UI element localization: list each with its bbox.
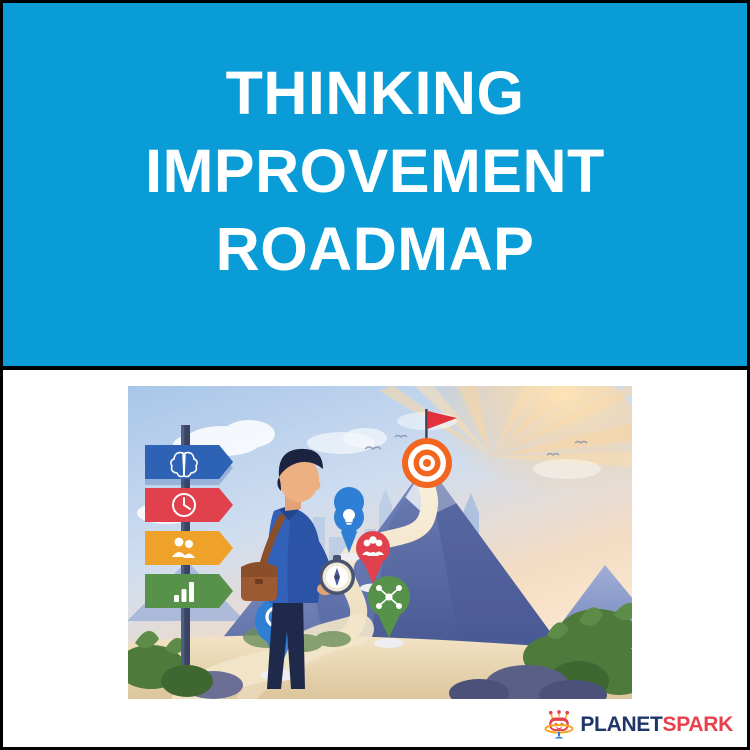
page-title-line-1: THINKING <box>226 55 525 131</box>
signpost-arrow-people[interactable] <box>145 531 233 565</box>
title-banner: THINKING IMPROVEMENT ROADMAP <box>3 3 747 370</box>
signpost-arrow-time[interactable] <box>145 488 233 522</box>
planetspark-robot-icon <box>544 710 574 740</box>
planetspark-logo: PLANETSPARK <box>544 709 733 741</box>
brand-word-spark: SPARK <box>663 713 733 737</box>
ear <box>314 480 321 490</box>
content-area: PLANETSPARK <box>3 374 747 747</box>
roadmap-illustration <box>127 385 633 700</box>
planetspark-wordmark: PLANETSPARK <box>580 713 733 737</box>
brand-word-planet: PLANET <box>580 713 662 737</box>
signpost-arrow-thinking[interactable] <box>145 445 233 485</box>
shoulder-bag <box>241 562 277 601</box>
slide-canvas: THINKING IMPROVEMENT ROADMAP <box>0 0 750 750</box>
illustration-graphic <box>127 385 633 700</box>
page-title-line-2: IMPROVEMENT <box>145 133 605 209</box>
signpost-arrow-growth[interactable] <box>145 574 233 608</box>
page-title-line-3: ROADMAP <box>216 211 535 287</box>
